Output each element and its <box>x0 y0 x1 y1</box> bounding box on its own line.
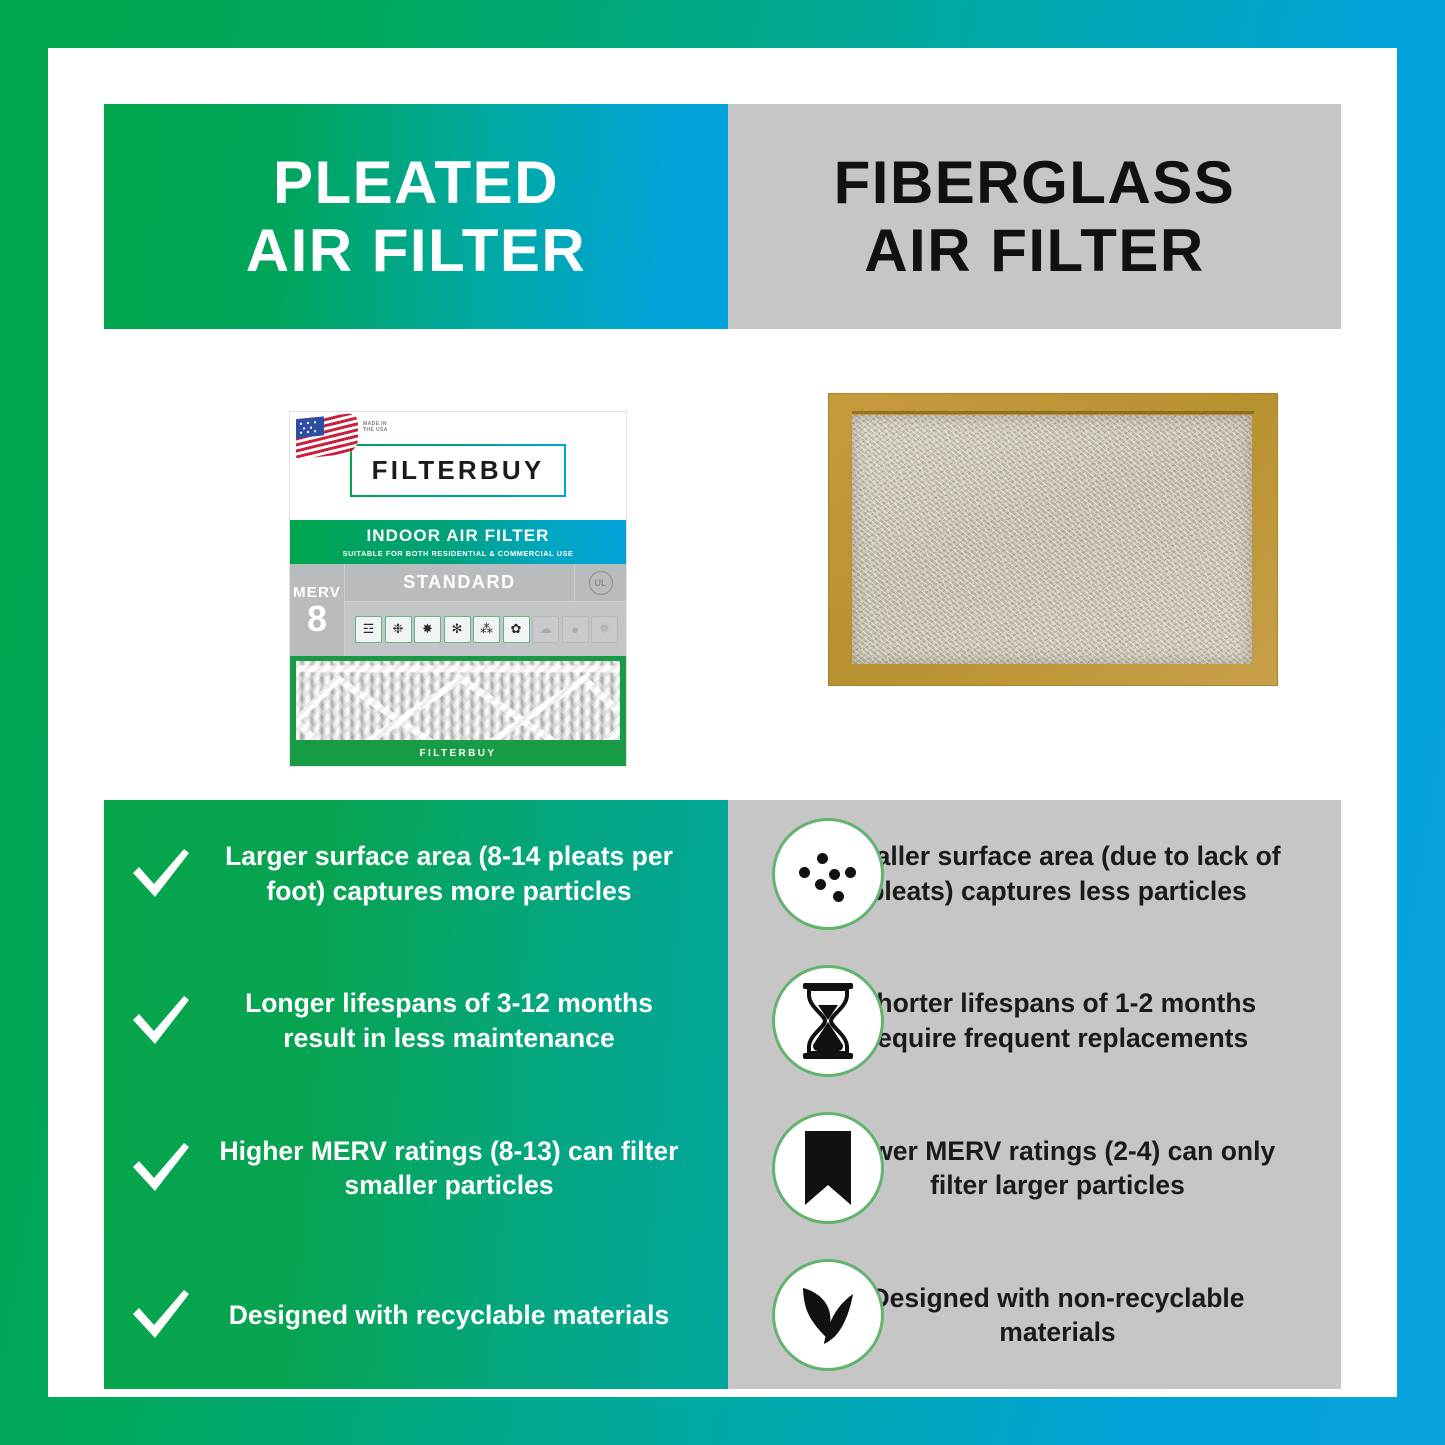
header-fiberglass-title: FIBERGLASS AIR FILTER <box>834 149 1236 283</box>
package-grade-row: STANDARD UL <box>345 564 626 602</box>
fiberglass-drawback-text: Lower MERV ratings (2-4) can only filter… <box>814 1134 1301 1203</box>
fiberglass-drawback-text: Shorter lifespans of 1-2 months require … <box>814 986 1301 1055</box>
package-gradient-band: INDOOR AIR FILTER SUITABLE FOR BOTH RESI… <box>290 520 626 564</box>
pet-dander-icon: ⁂ <box>473 616 500 643</box>
checkmark-cell <box>130 993 192 1049</box>
usa-flag-icon <box>296 413 358 460</box>
pleated-benefit-text: Larger surface area (8-14 pleats per foo… <box>206 839 710 908</box>
made-in-usa-label: MADE IN THE USA <box>363 421 388 434</box>
package-spec-strip: MERV 8 STANDARD UL ☲❉✸✻⁂✿☁●✵ <box>290 564 626 656</box>
fiberglass-media <box>852 415 1252 664</box>
pleated-benefit-text: Higher MERV ratings (8-13) can filter sm… <box>206 1134 710 1203</box>
fiberglass-drawback-text: Designed with non-recyclable materials <box>814 1281 1301 1350</box>
package-band-subtitle: SUITABLE FOR BOTH RESIDENTIAL & COMMERCI… <box>342 549 573 558</box>
comparison-row-left: Higher MERV ratings (8-13) can filter sm… <box>104 1095 728 1242</box>
header-pleated-line1: PLEATED <box>246 149 587 216</box>
comparison-icon-badge <box>772 1112 884 1224</box>
comparison-row: Larger surface area (8-14 pleats per foo… <box>104 800 1341 947</box>
comparison-row: Longer lifespans of 3-12 months result i… <box>104 947 1341 1094</box>
merv-value: 8 <box>307 602 327 636</box>
comparison-section: Larger surface area (8-14 pleats per foo… <box>104 800 1341 1389</box>
product-image-row: MADE IN THE USA FILTERBUY INDOOR AIR FIL… <box>104 329 1341 800</box>
header-fiberglass-line1: FIBERGLASS <box>834 149 1236 216</box>
header-bar: PLEATED AIR FILTER FIBERGLASS AIR FILTER <box>104 104 1341 329</box>
fiberglass-drawback-text: Smaller surface area (due to lack of ple… <box>814 839 1301 908</box>
checkmark-icon <box>130 993 192 1049</box>
leaf-recycle-icon <box>793 1280 863 1350</box>
dust-mites-icon: ✻ <box>444 616 471 643</box>
filter-support-wire <box>296 661 620 740</box>
package-band-title: INDOOR AIR FILTER <box>366 526 549 546</box>
comparison-row-left: Larger surface area (8-14 pleats per foo… <box>104 800 728 947</box>
checkmark-icon <box>130 1287 192 1343</box>
bacteria-icon: ● <box>562 616 589 643</box>
header-fiberglass-line2: AIR FILTER <box>834 217 1236 284</box>
header-fiberglass: FIBERGLASS AIR FILTER <box>728 104 1341 329</box>
pleated-benefit-text: Longer lifespans of 3-12 months result i… <box>206 986 710 1055</box>
header-pleated-line2: AIR FILTER <box>246 217 587 284</box>
comparison-icon-badge <box>772 965 884 1077</box>
fiberglass-product-cell <box>728 329 1341 800</box>
comparison-row-left: Designed with recyclable materials <box>104 1242 728 1389</box>
infographic-card: PLEATED AIR FILTER FIBERGLASS AIR FILTER <box>48 48 1397 1397</box>
comparison-icon-badge <box>772 1259 884 1371</box>
header-pleated-title: PLEATED AIR FILTER <box>246 149 587 283</box>
comparison-rows: Larger surface area (8-14 pleats per foo… <box>104 800 1341 1389</box>
virus-icon: ✵ <box>591 616 618 643</box>
pollen-icon: ❉ <box>385 616 412 643</box>
bookmark-icon <box>801 1129 855 1207</box>
checkmark-cell <box>130 1140 192 1196</box>
particles-icon <box>791 837 865 911</box>
header-pleated: PLEATED AIR FILTER <box>104 104 728 329</box>
package-filter-window: FILTERBUY <box>290 656 626 766</box>
ul-certification-mark: UL <box>574 564 626 601</box>
package-footer-brand: FILTERBUY <box>296 740 620 766</box>
pleated-media <box>296 661 620 740</box>
capability-icon-strip: ☲❉✸✻⁂✿☁●✵ <box>345 602 626 656</box>
pleated-product-cell: MADE IN THE USA FILTERBUY INDOOR AIR FIL… <box>104 329 728 800</box>
smoke-icon: ☁ <box>532 616 559 643</box>
comparison-row-left: Longer lifespans of 3-12 months result i… <box>104 947 728 1094</box>
package-brand-header: MADE IN THE USA FILTERBUY <box>290 412 626 520</box>
made-in-usa-line2: THE USA <box>363 427 388 433</box>
checkmark-cell <box>130 846 192 902</box>
mold-spores-icon: ✸ <box>414 616 441 643</box>
fiberglass-filter-photo <box>828 393 1278 686</box>
ul-icon: UL <box>589 571 613 595</box>
checkmark-icon <box>130 846 192 902</box>
hourglass-icon <box>797 981 859 1061</box>
dust-lint-icon: ☲ <box>355 616 382 643</box>
gradient-frame: PLEATED AIR FILTER FIBERGLASS AIR FILTER <box>0 0 1445 1445</box>
checkmark-cell <box>130 1287 192 1343</box>
pet-hair-icon: ✿ <box>503 616 530 643</box>
pleated-benefit-text: Designed with recyclable materials <box>206 1298 710 1332</box>
filterbuy-package: MADE IN THE USA FILTERBUY INDOOR AIR FIL… <box>289 411 627 767</box>
comparison-row: Designed with recyclable materialsDesign… <box>104 1242 1341 1389</box>
package-spec-right: STANDARD UL ☲❉✸✻⁂✿☁●✵ <box>345 564 626 656</box>
brand-name: FILTERBUY <box>372 455 545 485</box>
brand-logo-box: FILTERBUY <box>350 444 567 497</box>
comparison-row: Higher MERV ratings (8-13) can filter sm… <box>104 1095 1341 1242</box>
comparison-icon-badge <box>772 818 884 930</box>
checkmark-icon <box>130 1140 192 1196</box>
package-grade-label: STANDARD <box>345 564 574 601</box>
merv-rating-block: MERV 8 <box>290 564 345 656</box>
